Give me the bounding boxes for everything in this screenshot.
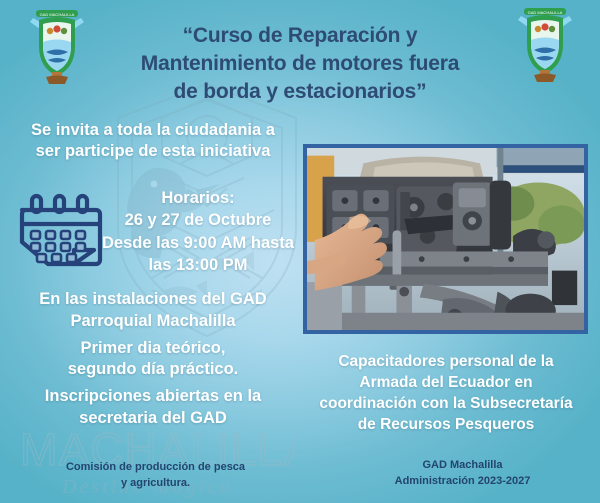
title-line-1: “Curso de Reparación y [95,22,505,50]
invitation-line-2: ser participe de esta iniciativa [8,141,298,162]
gad-machalilla-logo-right: GAD MACHALILLA [514,6,576,84]
venue-text: En las instalaciones del GAD Parroquial … [8,289,298,430]
invitation-line-1: Se invita a toda la ciudadania a [8,120,298,141]
footer-left-line-2: y agricultura. [48,476,263,492]
trainers-text: Capacitadores personal de la Armada del … [300,351,592,435]
registration-line-2: secretaria del GAD [8,408,298,430]
venue-line-1: En las instalaciones del GAD [8,289,298,311]
svg-text:GAD MACHALILLA: GAD MACHALILLA [40,12,75,17]
schedule-time-line-2: las 13:00 PM [96,254,300,276]
outboard-motor-photo [303,144,588,334]
title-line-2: Mantenimiento de motores fuera [95,50,505,78]
footer-right: GAD Machalilla Administración 2023-2027 [355,458,570,490]
format-line-2: segundo día práctico. [8,359,298,381]
schedule-dates: 26 y 27 de Octubre [96,209,300,231]
footer-right-line-1: GAD Machalilla [355,458,570,474]
poster-title: “Curso de Reparación y Mantenimiento de … [95,22,505,106]
footer-right-line-2: Administración 2023-2027 [355,474,570,490]
trainers-line-1: Capacitadores personal de la [300,351,592,372]
registration-line-1: Inscripciones abiertas en la [8,386,298,408]
trainers-line-3: coordinación con la Subsecretaría [300,393,592,414]
schedule-heading: Horarios: [96,187,300,209]
trainers-line-4: de Recursos Pesqueros [300,414,592,435]
schedule-text: Horarios: 26 y 27 de Octubre Desde las 9… [96,187,300,277]
schedule-time-line-1: Desde las 9:00 AM hasta [96,232,300,254]
venue-line-2: Parroquial Machalilla [8,311,298,333]
gad-machalilla-logo-left: GAD MACHALILLA [26,8,88,86]
footer-left-line-1: Comisión de producción de pesca [48,460,263,476]
title-line-3: de borda y estacionarios” [95,78,505,106]
invitation-text: Se invita a toda la ciudadania a ser par… [8,120,298,163]
svg-text:GAD MACHALILLA: GAD MACHALILLA [528,10,563,15]
event-poster: MACHALILLA Destino Mágico GAD MACHALILLA… [0,0,600,503]
trainers-line-2: Armada del Ecuador en [300,372,592,393]
footer-left: Comisión de producción de pesca y agricu… [48,460,263,492]
format-line-1: Primer dia teórico, [8,338,298,360]
